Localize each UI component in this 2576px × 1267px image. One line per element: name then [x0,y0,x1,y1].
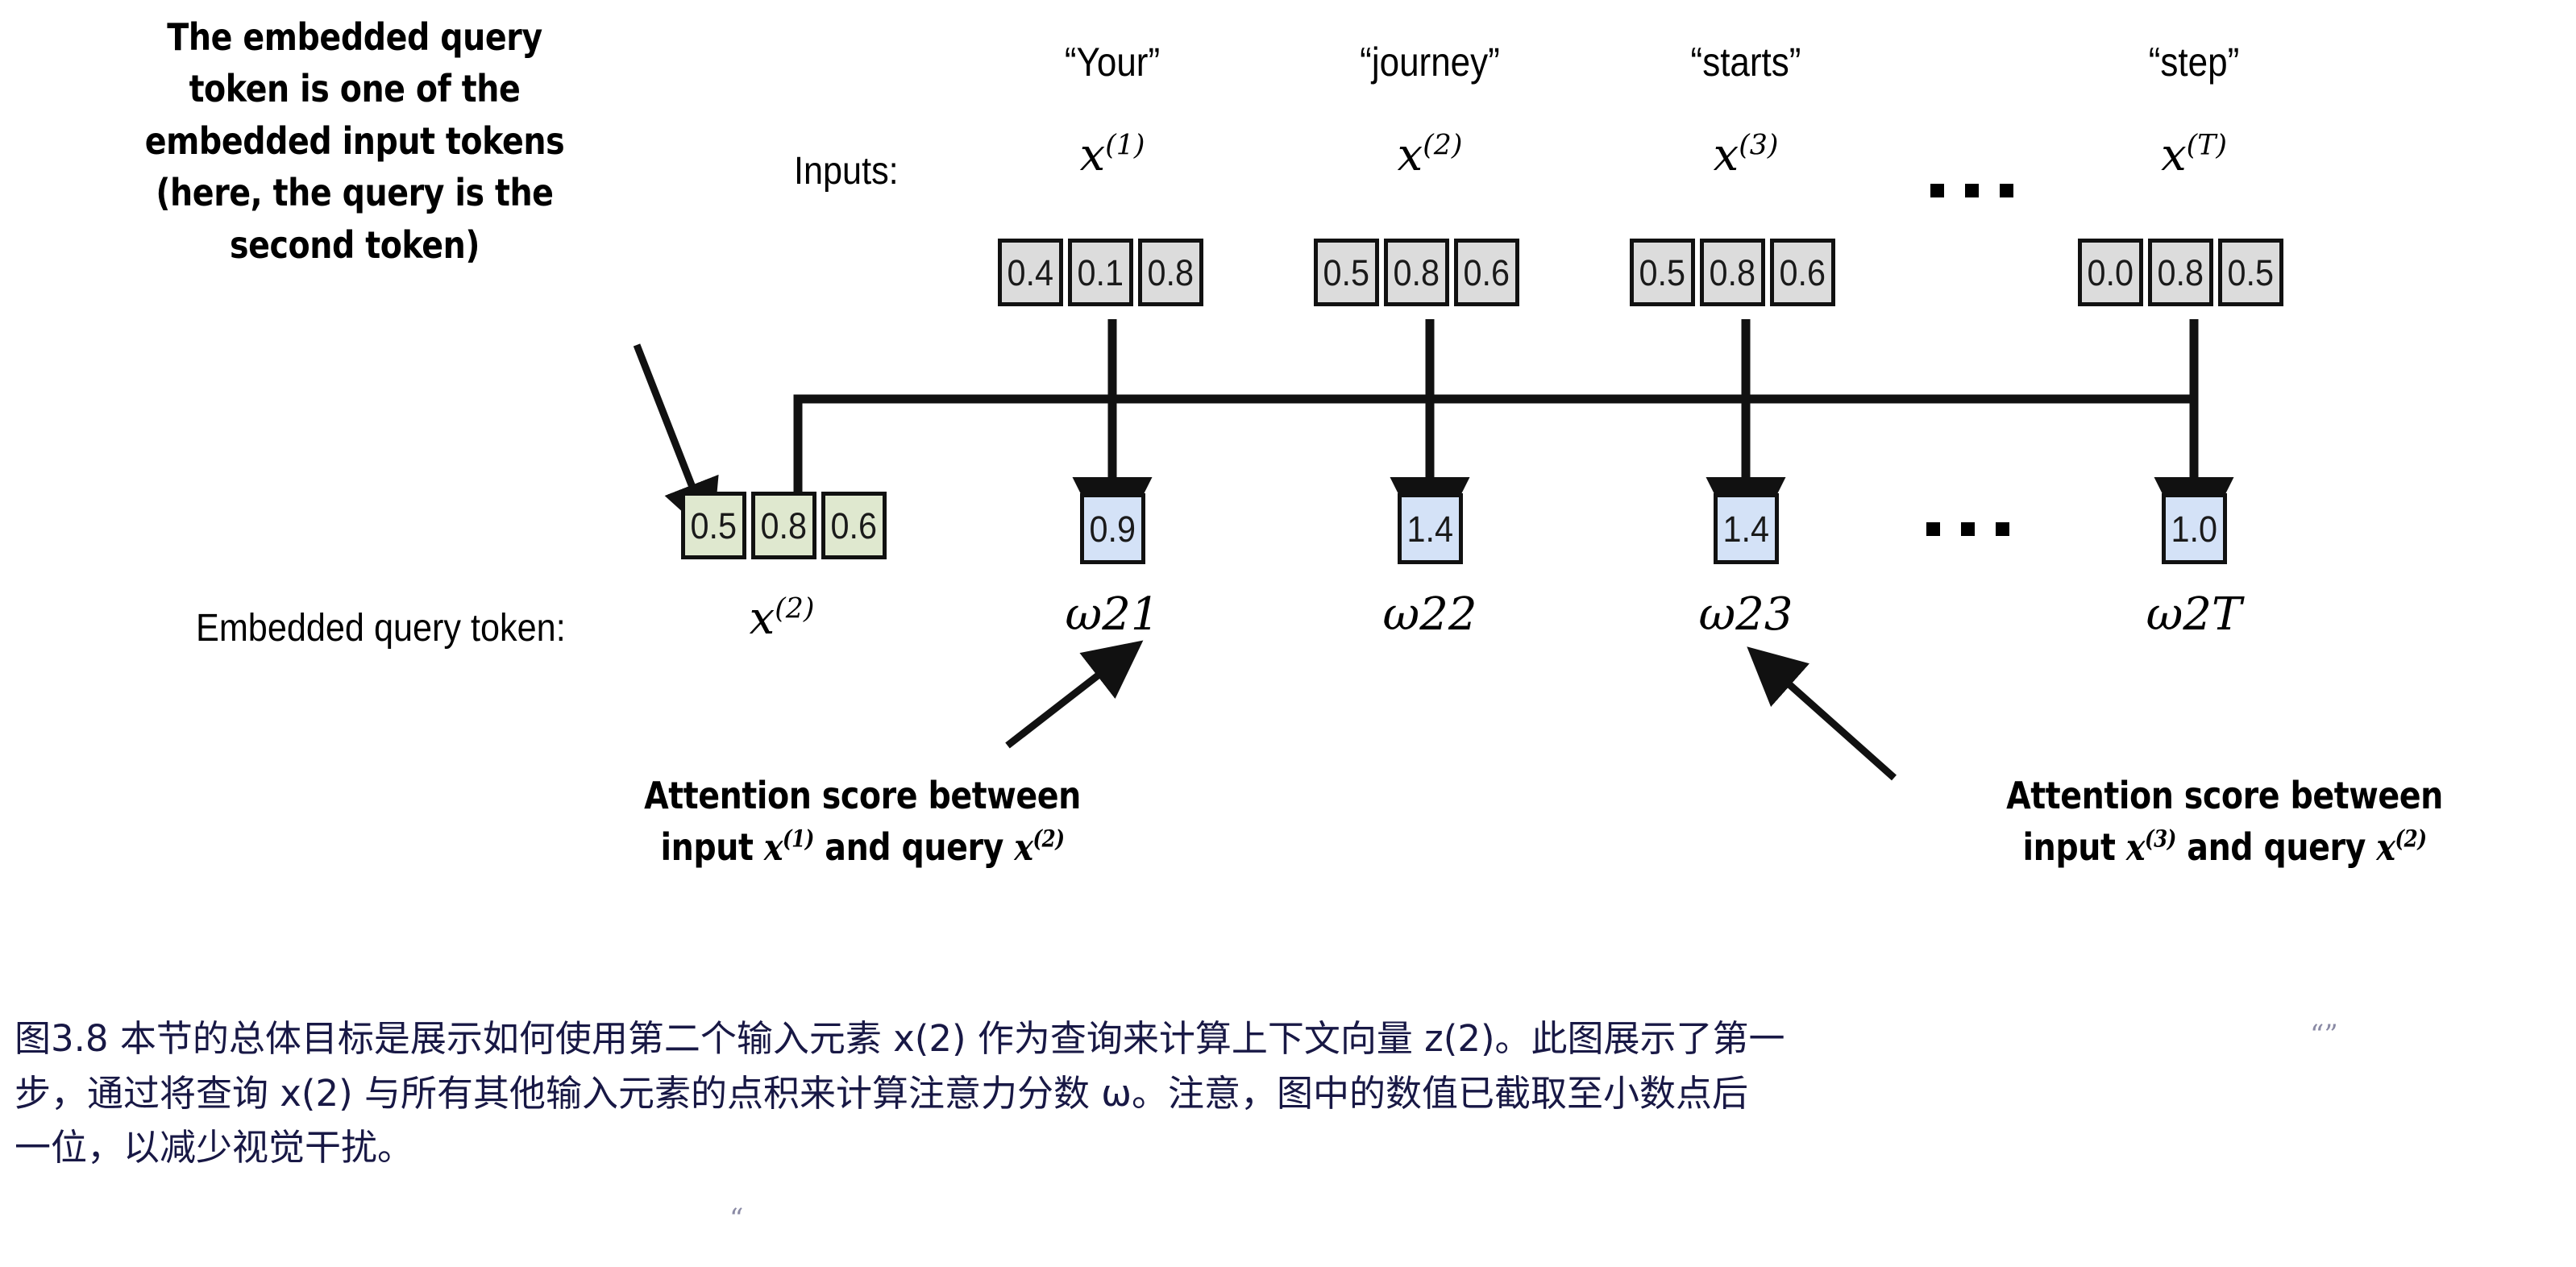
cell-value: 0.5 [691,508,737,544]
annotation-symbol-base: x [1014,825,1032,869]
token-symbol-2: x(2) [1309,129,1551,181]
input-vector-cell: 0.8 [1384,239,1449,306]
score-row-ellipsis [1926,522,2009,536]
caption-line: 步，通过将查询 x(2) 与所有其他输入元素的点积来计算注意力分数 ω。注意，图… [15,1066,2570,1121]
input-vector-cell: 0.4 [998,239,1063,306]
attention-score-cell: 1.4 [1714,493,1779,564]
cell-value: 0.8 [1148,255,1195,291]
omega-subscript: 22 [1419,588,1477,641]
input-vector-cell: 0.8 [1138,239,1203,306]
caption-line: 图3.8 本节的总体目标是展示如何使用第二个输入元素 x(2) 作为查询来计算上… [15,1012,2570,1066]
cell-value: 0.6 [1780,255,1826,291]
cell-value: 0.5 [1639,255,1686,291]
token-symbol-4: x(T) [2073,129,2315,181]
query-vector-symbol: x(2) [693,592,870,645]
attention-score-cell: 1.0 [2162,493,2227,564]
attention-score-box-3: 1.4 [1714,493,1779,564]
figure-canvas: The embedded query token is one of the e… [0,0,2576,1267]
arrow-annotation-right-to-score-23 [1784,679,1894,778]
annotation-text: and query [814,825,1014,869]
input-vector-cell: 0.5 [1630,239,1695,306]
figure-caption: 图3.8 本节的总体目标是展示如何使用第二个输入元素 x(2) 作为查询来计算上… [15,1012,2570,1175]
annotation-symbol-superscript: (2) [1033,825,1065,853]
input-vector-cell: 0.8 [1700,239,1765,306]
omega-base: ω [1699,588,1736,641]
annotation-right-line2: input x(3) and query x(2) [1955,821,2495,873]
cell-value: 0.6 [831,508,878,544]
input-vector-cell: 0.6 [1454,239,1519,306]
callout-line: token is one of the [105,63,604,114]
attention-score-cell: 0.9 [1080,493,1145,564]
token-symbol-1: x(1) [991,129,1233,181]
query-symbol-superscript: (2) [775,592,814,625]
query-vector-cell: 0.8 [751,492,816,559]
attention-score-cell: 1.4 [1398,493,1463,564]
omega-base: ω [1383,588,1420,641]
ellipsis-dot [1926,522,1940,536]
token-symbol-base: x [1080,129,1106,181]
annotation-text: and query [2176,825,2376,869]
embedded-query-token-label: Embedded query token: [196,606,566,650]
input-vector-3: 0.5 0.8 0.6 [1630,239,1835,306]
annotation-text: input [2022,825,2125,869]
annotation-symbol-superscript: (1) [783,825,814,853]
cell-value: 0.5 [2228,255,2275,291]
token-symbol-superscript: (3) [1739,129,1778,161]
arrow-annotation-left-to-score-21 [1008,671,1104,746]
attention-score-symbol-2: ω22 [1349,588,1510,641]
omega-base: ω [1066,588,1103,641]
input-vector-cell: 0.5 [2218,239,2283,306]
input-vector-cell: 0.6 [1770,239,1835,306]
token-symbol-superscript: (2) [1423,129,1462,161]
inputs-label: Inputs: [794,149,899,193]
annotation-text: input [660,825,763,869]
query-vector-cell: 0.6 [821,492,887,559]
omega-subscript: 21 [1102,588,1159,641]
cell-value: 0.8 [1710,255,1756,291]
token-symbol-base: x [2161,129,2187,181]
caption-line: 一位，以减少视觉干扰。 [15,1120,2570,1175]
query-vector-cell: 0.5 [681,492,746,559]
input-row-ellipsis [1930,184,2013,197]
annotation-right-line1: Attention score between [1955,770,2495,821]
cell-value: 0.9 [1090,511,1136,547]
omega-subscript: 2T [2183,588,2242,641]
cell-value: 0.8 [2158,255,2204,291]
callout-line: second token) [105,219,604,271]
attention-score-symbol-1: ω21 [1032,588,1193,641]
ellipsis-dot [1965,184,1979,197]
input-vector-cell: 0.1 [1068,239,1133,306]
token-symbol-3: x(3) [1625,129,1867,181]
annotation-symbol-superscript: (3) [2145,825,2176,853]
annotation-left: Attention score between input x(1) and q… [592,770,1133,874]
token-symbol-superscript: (1) [1105,129,1145,161]
scan-artifact-mark: “ [729,1203,743,1235]
annotation-left-line1: Attention score between [592,770,1133,821]
input-vector-4: 0.0 0.8 0.5 [2078,239,2283,306]
omega-subscript: 23 [1735,588,1793,641]
token-symbol-base: x [1398,129,1423,181]
input-vector-cell: 0.0 [2078,239,2143,306]
query-symbol-base: x [750,592,775,645]
cell-value: 0.8 [761,508,808,544]
annotation-symbol-base: x [764,825,783,869]
annotation-left-line2: input x(1) and query x(2) [592,821,1133,873]
annotation-symbol-base: x [2126,825,2145,869]
cell-value: 1.4 [1723,511,1770,547]
token-symbol-superscript: (T) [2187,129,2227,161]
attention-score-symbol-4: ω2T [2113,588,2275,641]
annotation-symbol-superscript: (2) [2395,825,2427,853]
attention-score-box-2: 1.4 [1398,493,1463,564]
omega-base: ω [2146,588,2183,641]
token-symbol-base: x [1714,129,1739,181]
attention-score-box-1: 0.9 [1080,493,1145,564]
input-vector-cell: 0.5 [1314,239,1379,306]
annotation-right: Attention score between input x(3) and q… [1955,770,2495,874]
token-word-2: “journey” [1323,39,1536,85]
token-word-3: “starts” [1639,39,1852,85]
ellipsis-dot [2000,184,2013,197]
input-vector-1: 0.4 0.1 0.8 [998,239,1203,306]
callout-line: (here, the query is the [105,167,604,218]
token-word-4: “step” [2088,39,2300,85]
callout-line: embedded input tokens [105,115,604,167]
cell-value: 1.4 [1407,511,1454,547]
cell-value: 1.0 [2171,511,2218,547]
cell-value: 0.0 [2088,255,2134,291]
arrow-callout-to-query-vector [637,345,695,493]
attention-score-box-4: 1.0 [2162,493,2227,564]
input-vector-cell: 0.8 [2148,239,2213,306]
token-word-1: “Your” [1006,39,1219,85]
callout-embedded-query-token: The embedded query token is one of the e… [105,11,604,271]
attention-score-symbol-3: ω23 [1665,588,1826,641]
query-vector: 0.5 0.8 0.6 [681,492,887,559]
ellipsis-dot [1961,522,1975,536]
annotation-symbol-base: x [2376,825,2395,869]
cell-value: 0.5 [1323,255,1370,291]
cell-value: 0.6 [1464,255,1510,291]
cell-value: 0.8 [1394,255,1440,291]
cell-value: 0.4 [1008,255,1054,291]
cell-value: 0.1 [1078,255,1124,291]
ellipsis-dot [1996,522,2009,536]
ellipsis-dot [1930,184,1944,197]
input-vector-2: 0.5 0.8 0.6 [1314,239,1519,306]
callout-line: The embedded query [105,11,604,63]
